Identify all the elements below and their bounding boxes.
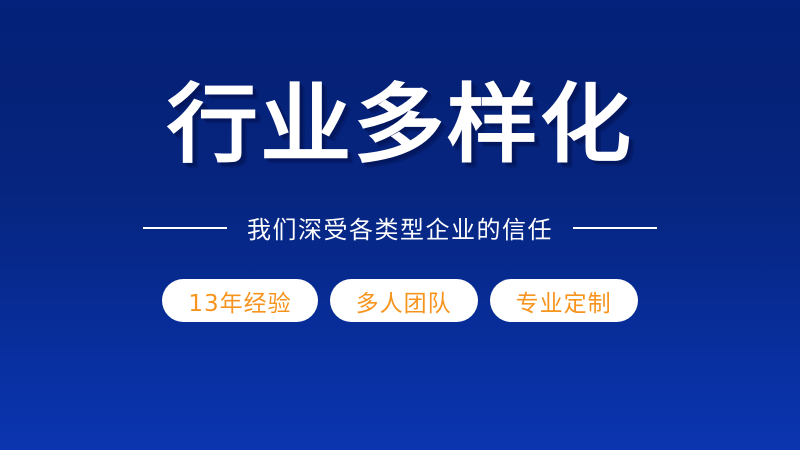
rule-left-decoration xyxy=(143,227,227,229)
title-container: 行业多样化 xyxy=(0,82,800,168)
tag-experience[interactable]: 13年经验 xyxy=(162,279,317,322)
promo-banner: 行业多样化 我们深受各类型企业的信任 13年经验 多人团队 专业定制 xyxy=(0,0,800,450)
subtitle-container: 我们深受各类型企业的信任 xyxy=(0,210,800,245)
page-subtitle: 我们深受各类型企业的信任 xyxy=(247,210,553,245)
tag-team[interactable]: 多人团队 xyxy=(330,279,478,322)
tag-list: 13年经验 多人团队 专业定制 xyxy=(0,279,800,322)
tag-customization[interactable]: 专业定制 xyxy=(490,279,638,322)
rule-right-decoration xyxy=(573,227,657,229)
page-title: 行业多样化 xyxy=(167,82,633,168)
tag-team-label: 多人团队 xyxy=(356,284,452,318)
tag-experience-label: 13年经验 xyxy=(188,284,291,318)
tag-customization-label: 专业定制 xyxy=(516,284,612,318)
